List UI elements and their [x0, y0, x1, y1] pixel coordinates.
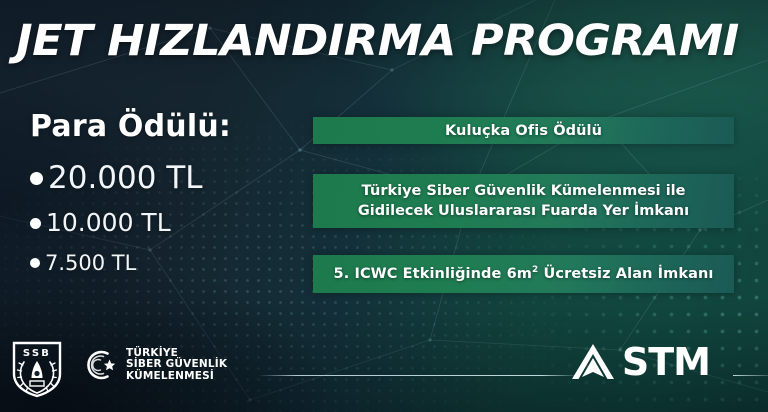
award-text: Kuluçka Ofis Ödülü: [445, 123, 602, 139]
award-box-icwc-free-space: 5. ICWC Etkinliğinde 6m2 Ücretsiz Alan İ…: [313, 255, 734, 293]
svg-text:SSB: SSB: [23, 348, 51, 359]
prize-section: Para Ödülü: 20.000 TL 10.000 TL 7.500 TL: [30, 110, 300, 278]
award-box-international-fair: Türkiye Siber Güvenlik Kümelenmesi ile G…: [313, 174, 734, 228]
footer-divider-left: [258, 375, 580, 376]
stm-delta-icon: [571, 342, 615, 382]
poster-title: JET HIZLANDIRMA PROGRAMI: [16, 16, 768, 66]
prize-amount: 7.500 TL: [45, 248, 136, 278]
poster-canvas: JET HIZLANDIRMA PROGRAMI Para Ödülü: 20.…: [0, 0, 768, 412]
cyber-security-cluster-logo: TÜRKİYE SİBER GÜVENLİK KÜMELENMESİ: [82, 347, 227, 383]
footer-divider-right: [733, 375, 768, 376]
prize-amount: 20.000 TL: [48, 158, 203, 198]
bullet-icon: [30, 172, 43, 185]
award-text-line1: Türkiye Siber Güvenlik Kümelenmesi ile: [362, 183, 686, 199]
bullet-icon: [30, 218, 41, 229]
stm-logo: STM: [571, 342, 710, 382]
ssb-logo: SSB: [10, 340, 64, 398]
cluster-logo-text: TÜRKİYE SİBER GÜVENLİK KÜMELENMESİ: [126, 348, 227, 383]
award-box-incubation-office: Kuluçka Ofis Ödülü: [313, 117, 734, 144]
crescent-star-icon: [82, 347, 118, 383]
prize-item-third: 7.500 TL: [30, 248, 300, 278]
award-text-inline: 5. ICWC Etkinliğinde 6m2 Ücretsiz Alan İ…: [334, 266, 714, 282]
award-text-prefix: 5. ICWC Etkinliğinde 6m: [334, 266, 533, 282]
prize-heading: Para Ödülü:: [30, 110, 300, 144]
award-text-line2: Gidilecek Uluslararası Fuarda Yer İmkanı: [358, 203, 689, 219]
award-text-suffix: Ücretsiz Alan İmkanı: [538, 266, 713, 282]
bullet-icon: [30, 258, 40, 268]
prize-item-second: 10.000 TL: [30, 206, 300, 240]
cluster-line-3: KÜMELENMESİ: [126, 371, 227, 383]
award-text-block: Türkiye Siber Güvenlik Kümelenmesi ile G…: [358, 181, 689, 221]
stm-logo-text: STM: [622, 343, 710, 381]
footer-bar: SSB: [0, 328, 768, 412]
prize-item-first: 20.000 TL: [30, 158, 300, 198]
prize-amount: 10.000 TL: [46, 206, 171, 240]
